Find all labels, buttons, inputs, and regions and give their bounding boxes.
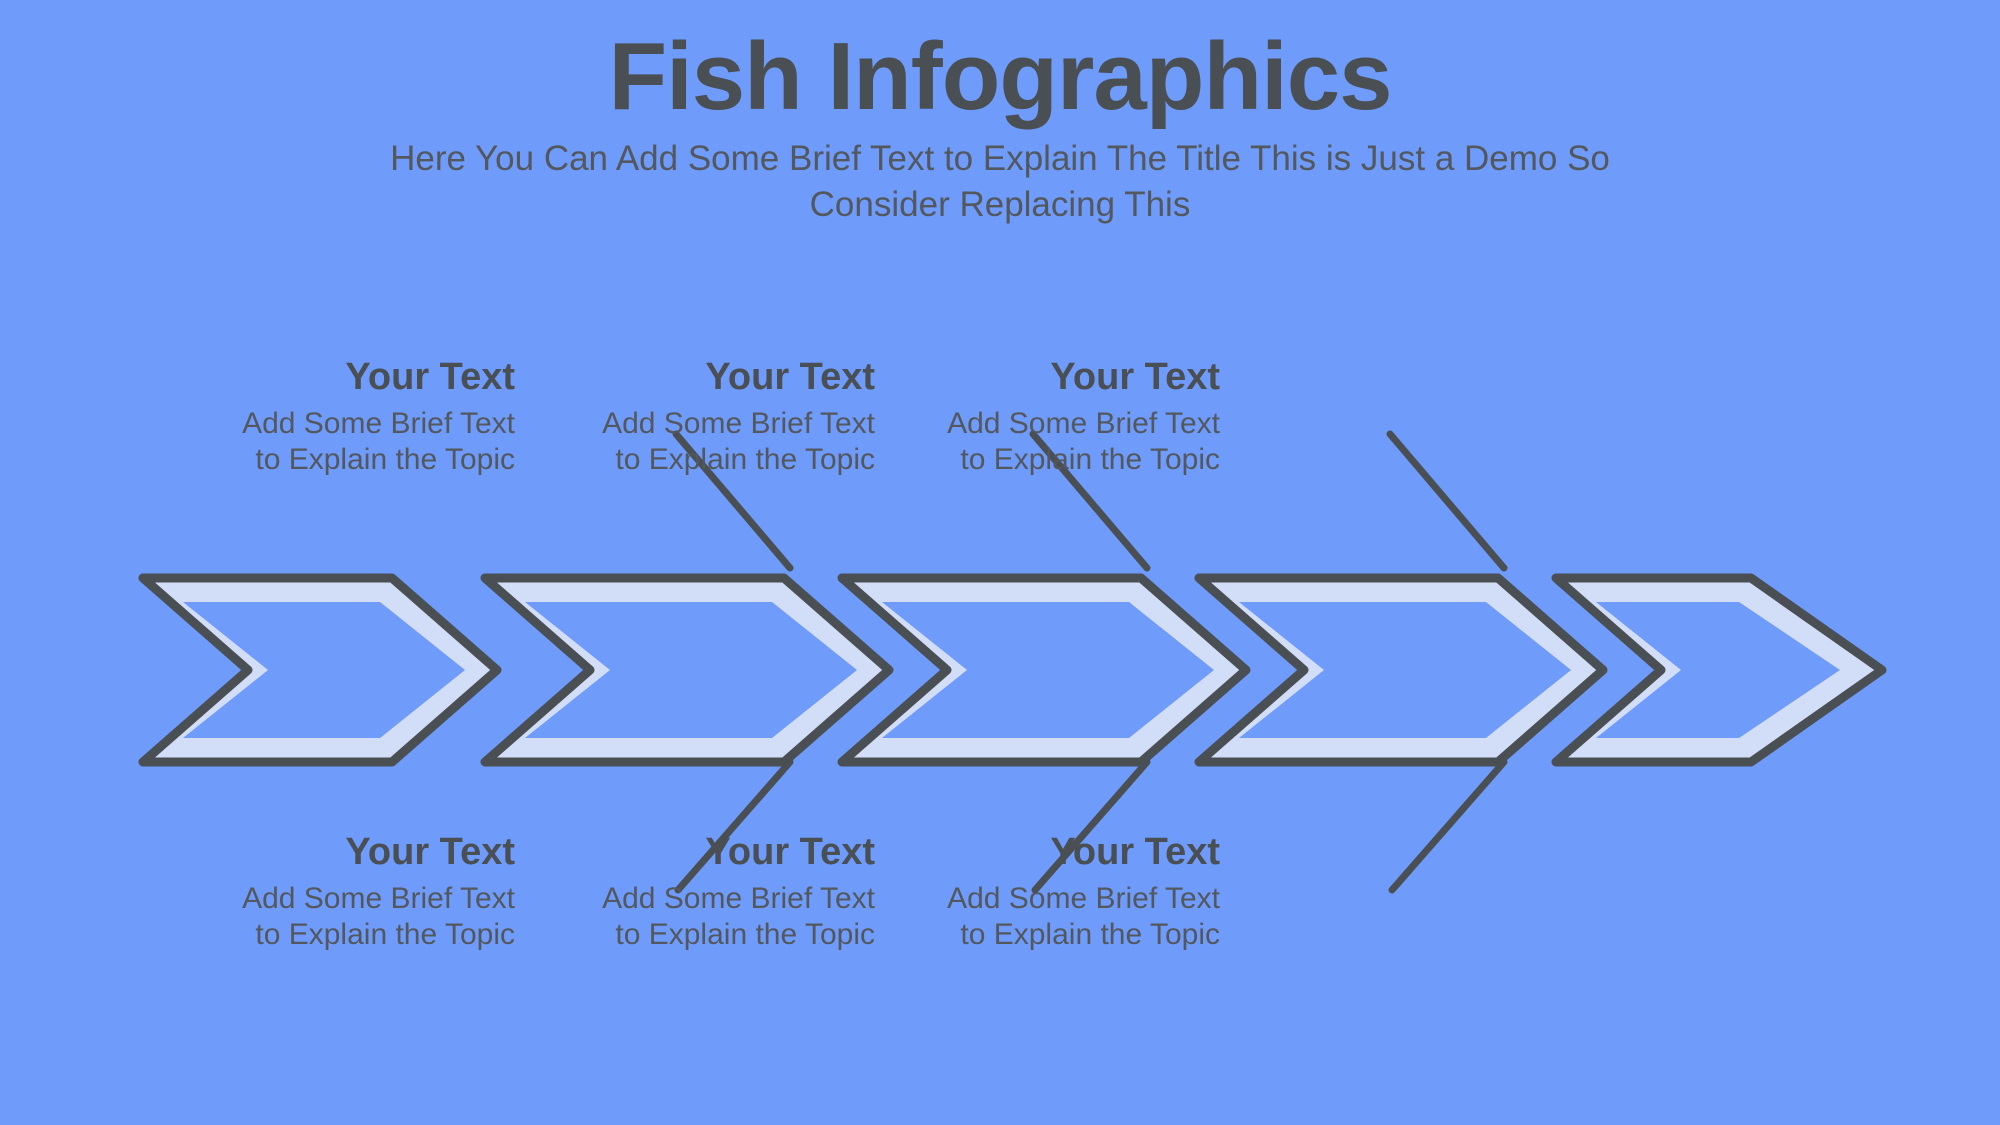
callout-title: Your Text bbox=[215, 355, 515, 400]
connector-line-top-3 bbox=[1390, 434, 1504, 568]
callout-body: Add Some Brief Text to Explain the Topic bbox=[920, 406, 1220, 479]
chevron-segment-1[interactable] bbox=[143, 578, 497, 762]
infographic-canvas: Fish Infographics Here You Can Add Some … bbox=[0, 0, 2000, 1125]
callout-body: Add Some Brief Text to Explain the Topic bbox=[575, 406, 875, 479]
callout-body: Add Some Brief Text to Explain the Topic bbox=[215, 881, 515, 954]
chevron-segment-4[interactable] bbox=[1199, 578, 1603, 762]
chevron-segment-2[interactable] bbox=[485, 578, 889, 762]
callout-bottom-3[interactable]: Your Text Add Some Brief Text to Explain… bbox=[920, 830, 1220, 954]
callout-body: Add Some Brief Text to Explain the Topic bbox=[575, 881, 875, 954]
callout-top-3[interactable]: Your Text Add Some Brief Text to Explain… bbox=[920, 355, 1220, 479]
fishbone-diagram bbox=[0, 0, 2000, 1125]
callout-title: Your Text bbox=[575, 355, 875, 400]
callout-body: Add Some Brief Text to Explain the Topic bbox=[215, 406, 515, 479]
callout-bottom-1[interactable]: Your Text Add Some Brief Text to Explain… bbox=[215, 830, 515, 954]
chevron-segment-3[interactable] bbox=[842, 578, 1246, 762]
connector-line-bottom-3 bbox=[1392, 762, 1504, 890]
callout-title: Your Text bbox=[920, 355, 1220, 400]
callout-title: Your Text bbox=[575, 830, 875, 875]
callout-title: Your Text bbox=[215, 830, 515, 875]
callout-top-2[interactable]: Your Text Add Some Brief Text to Explain… bbox=[575, 355, 875, 479]
callout-bottom-2[interactable]: Your Text Add Some Brief Text to Explain… bbox=[575, 830, 875, 954]
callout-top-1[interactable]: Your Text Add Some Brief Text to Explain… bbox=[215, 355, 515, 479]
callout-title: Your Text bbox=[920, 830, 1220, 875]
callout-body: Add Some Brief Text to Explain the Topic bbox=[920, 881, 1220, 954]
